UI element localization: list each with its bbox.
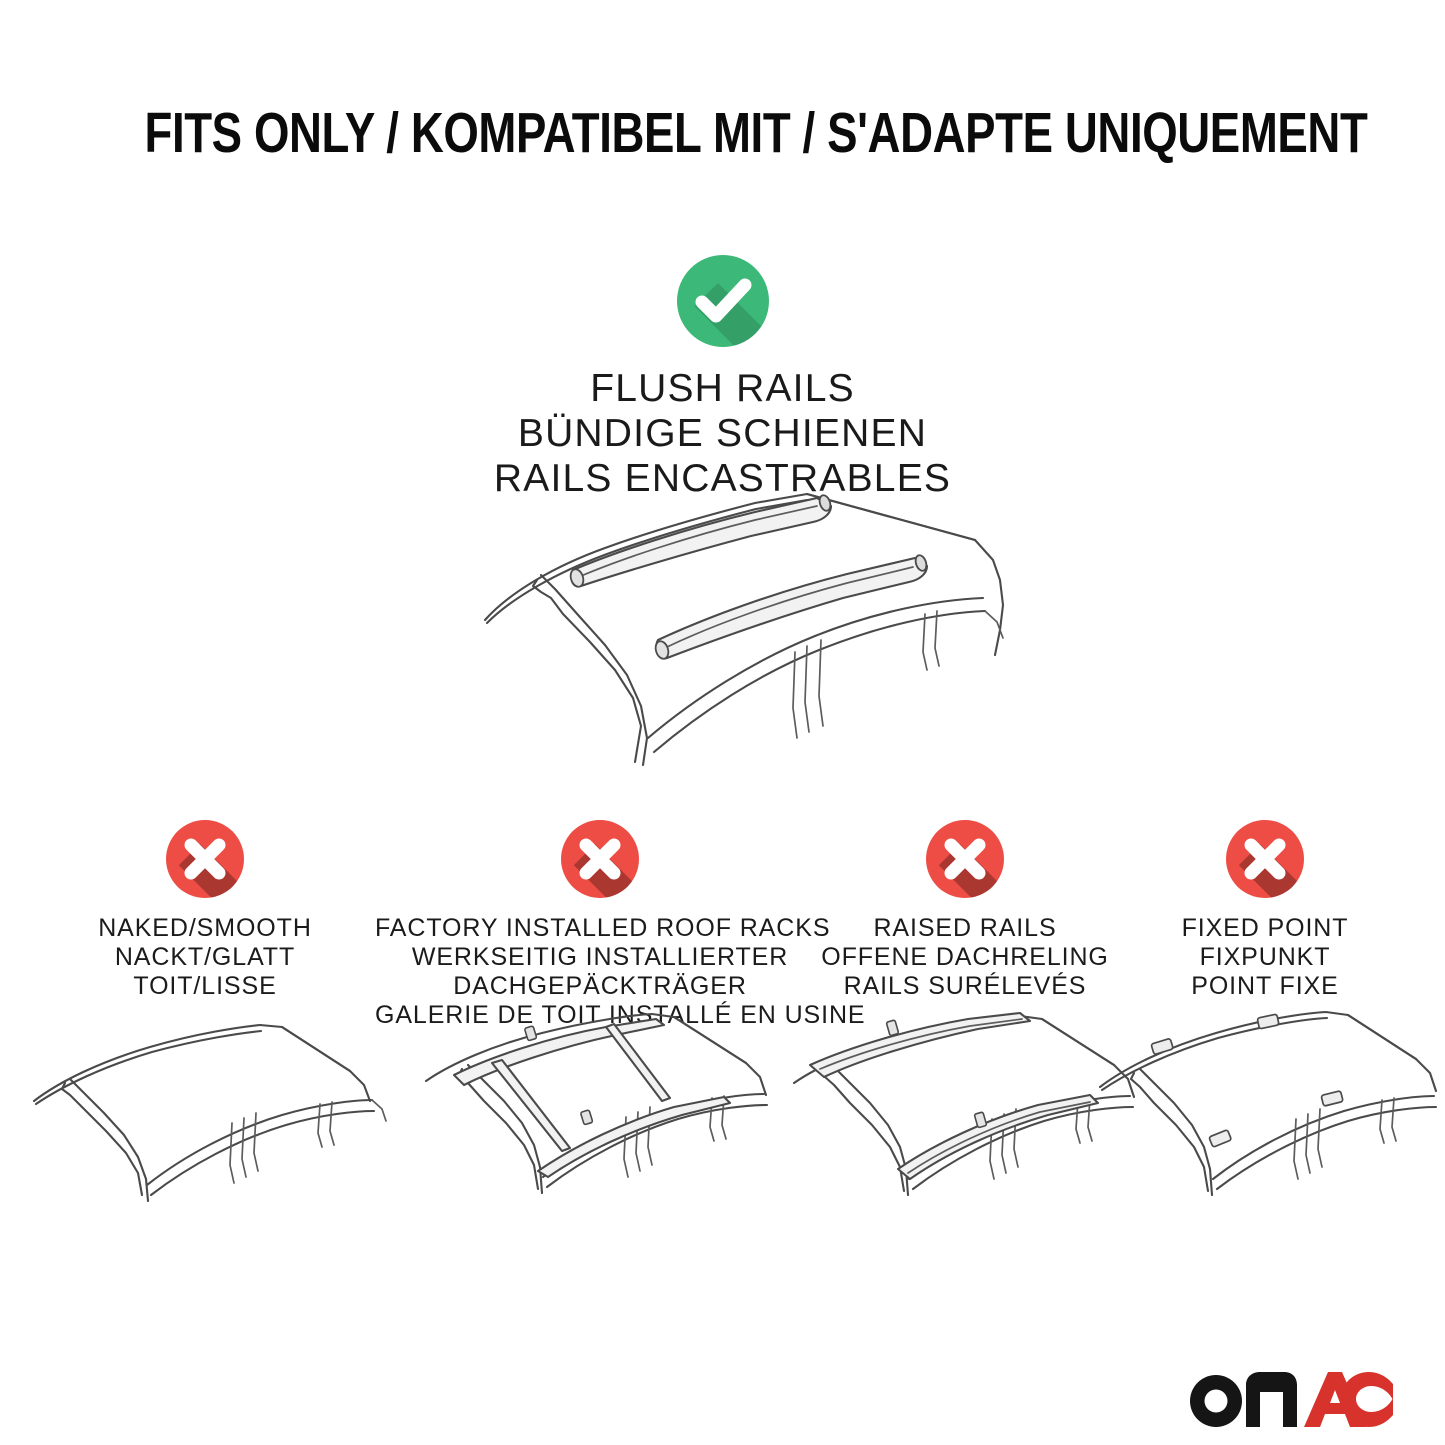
incompatible-label-group: RAISED RAILS OFFENE DACHRELING RAILS SUR… [795, 914, 1135, 1001]
omac-brand-logo [1189, 1368, 1394, 1430]
check-mark-glyph [677, 255, 769, 347]
x-mark-glyph [561, 820, 639, 898]
incompatible-label-group: FIXED POINT FIXPUNKT POINT FIXE [1110, 914, 1420, 1001]
flush-rail-near [654, 554, 929, 661]
label-line-fr: POINT FIXE [1110, 972, 1420, 1001]
label-line-de-1: WERKSEITIG INSTALLIERTER [375, 943, 825, 972]
label-line-en: RAISED RAILS [795, 914, 1135, 943]
incompatible-item-factory-racks: FACTORY INSTALLED ROOF RACKS WERKSEITIG … [375, 820, 825, 1030]
check-circle-icon [677, 255, 769, 347]
car-roof-factory-crossbars-illustration [410, 1005, 790, 1220]
logo-letter-o [1190, 1375, 1242, 1427]
incompatible-label-group: NAKED/SMOOTH NACKT/GLATT TOIT/LISSE [15, 914, 395, 1001]
label-line-de: OFFENE DACHRELING [795, 943, 1135, 972]
incompatible-item-fixed-point: FIXED POINT FIXPUNKT POINT FIXE [1110, 820, 1420, 1001]
label-line-de-2: DACHGEPÄCKTRÄGER [375, 972, 825, 1001]
incompatible-item-raised-rails: RAISED RAILS OFFENE DACHRELING RAILS SUR… [795, 820, 1135, 1001]
page-title: FITS ONLY / KOMPATIBEL MIT / S'ADAPTE UN… [145, 98, 1301, 168]
x-circle-icon [561, 820, 639, 898]
x-mark-glyph [926, 820, 1004, 898]
label-line-de: NACKT/GLATT [15, 943, 395, 972]
compatible-section: FLUSH RAILS BÜNDIGE SCHIENEN RAILS ENCAS… [0, 255, 1445, 501]
logo-letter-c [1341, 1372, 1393, 1427]
label-line-en: FIXED POINT [1110, 914, 1420, 943]
flush-rail-far [569, 494, 833, 589]
label-line-fr: RAILS SURÉLEVÉS [795, 972, 1135, 1001]
label-line-en: FACTORY INSTALLED ROOF RACKS [375, 914, 825, 943]
compatible-label-en: FLUSH RAILS [0, 366, 1445, 411]
car-roof-naked-smooth-illustration [20, 1005, 390, 1215]
label-line-de: FIXPUNKT [1110, 943, 1420, 972]
x-circle-icon [1226, 820, 1304, 898]
car-roof-flush-rails-illustration [455, 470, 1015, 790]
incompatible-item-naked-smooth: NAKED/SMOOTH NACKT/GLATT TOIT/LISSE [15, 820, 395, 1001]
x-circle-icon [926, 820, 1004, 898]
x-mark-glyph [1226, 820, 1304, 898]
label-line-fr: TOIT/LISSE [15, 972, 395, 1001]
x-circle-icon [166, 820, 244, 898]
x-mark-glyph [166, 820, 244, 898]
car-roof-fixed-points-illustration [1090, 1005, 1440, 1210]
label-line-en: NAKED/SMOOTH [15, 914, 395, 943]
logo-letter-m [1246, 1372, 1297, 1427]
compatible-label-de: BÜNDIGE SCHIENEN [0, 411, 1445, 456]
incompatible-section: NAKED/SMOOTH NACKT/GLATT TOIT/LISSE [0, 820, 1445, 1240]
compatibility-infographic: FITS ONLY / KOMPATIBEL MIT / S'ADAPTE UN… [0, 0, 1445, 1445]
